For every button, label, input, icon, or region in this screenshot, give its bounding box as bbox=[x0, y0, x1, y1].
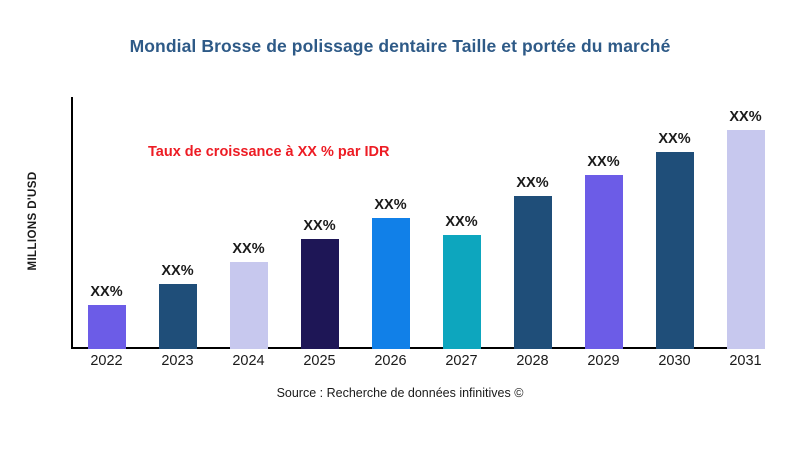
bar-group-2023: XX% bbox=[142, 97, 213, 349]
growth-rate-annotation: Taux de croissance à XX % par IDR bbox=[148, 144, 390, 160]
x-tick-2030: 2030 bbox=[639, 353, 710, 369]
bar-value-label-2026: XX% bbox=[374, 197, 406, 213]
bar-2028[interactable] bbox=[514, 196, 552, 349]
plot-area: XX%XX%XX%XX%XX%XX%XX%XX%XX%XX% bbox=[71, 97, 781, 349]
x-tick-2023: 2023 bbox=[142, 353, 213, 369]
bar-chart-figure: Mondial Brosse de polissage dentaire Tai… bbox=[0, 0, 800, 450]
bar-value-label-2025: XX% bbox=[303, 218, 335, 234]
x-tick-2024: 2024 bbox=[213, 353, 284, 369]
bar-2023[interactable] bbox=[159, 284, 197, 349]
x-tick-2029: 2029 bbox=[568, 353, 639, 369]
y-axis-title: MILLIONS D'USD bbox=[27, 111, 39, 331]
x-tick-2026: 2026 bbox=[355, 353, 426, 369]
x-tick-2027: 2027 bbox=[426, 353, 497, 369]
bar-value-label-2029: XX% bbox=[587, 154, 619, 170]
bar-group-2028: XX% bbox=[497, 97, 568, 349]
bar-group-2027: XX% bbox=[426, 97, 497, 349]
x-tick-2025: 2025 bbox=[284, 353, 355, 369]
bar-value-label-2023: XX% bbox=[161, 263, 193, 279]
bar-2031[interactable] bbox=[727, 130, 765, 349]
bar-2030[interactable] bbox=[656, 152, 694, 349]
bar-2026[interactable] bbox=[372, 218, 410, 349]
bar-2029[interactable] bbox=[585, 175, 623, 349]
bar-value-label-2022: XX% bbox=[90, 284, 122, 300]
bar-group-2022: XX% bbox=[71, 97, 142, 349]
bar-2027[interactable] bbox=[443, 235, 481, 349]
bar-value-label-2027: XX% bbox=[445, 214, 477, 230]
bar-2025[interactable] bbox=[301, 239, 339, 349]
x-tick-2031: 2031 bbox=[710, 353, 781, 369]
chart-title: Mondial Brosse de polissage dentaire Tai… bbox=[0, 36, 800, 57]
bar-value-label-2030: XX% bbox=[658, 131, 690, 147]
bar-value-label-2028: XX% bbox=[516, 175, 548, 191]
bar-2022[interactable] bbox=[88, 305, 126, 349]
bar-group-2030: XX% bbox=[639, 97, 710, 349]
bar-group-2025: XX% bbox=[284, 97, 355, 349]
bar-2024[interactable] bbox=[230, 262, 268, 349]
source-caption: Source : Recherche de données infinitive… bbox=[0, 386, 800, 400]
x-tick-2022: 2022 bbox=[71, 353, 142, 369]
x-axis-tick-labels: 2022202320242025202620272028202920302031 bbox=[71, 353, 781, 377]
bar-group-2026: XX% bbox=[355, 97, 426, 349]
bar-value-label-2031: XX% bbox=[729, 109, 761, 125]
bar-group-2029: XX% bbox=[568, 97, 639, 349]
x-tick-2028: 2028 bbox=[497, 353, 568, 369]
bar-group-2031: XX% bbox=[710, 97, 781, 349]
bar-group-2024: XX% bbox=[213, 97, 284, 349]
bar-value-label-2024: XX% bbox=[232, 241, 264, 257]
